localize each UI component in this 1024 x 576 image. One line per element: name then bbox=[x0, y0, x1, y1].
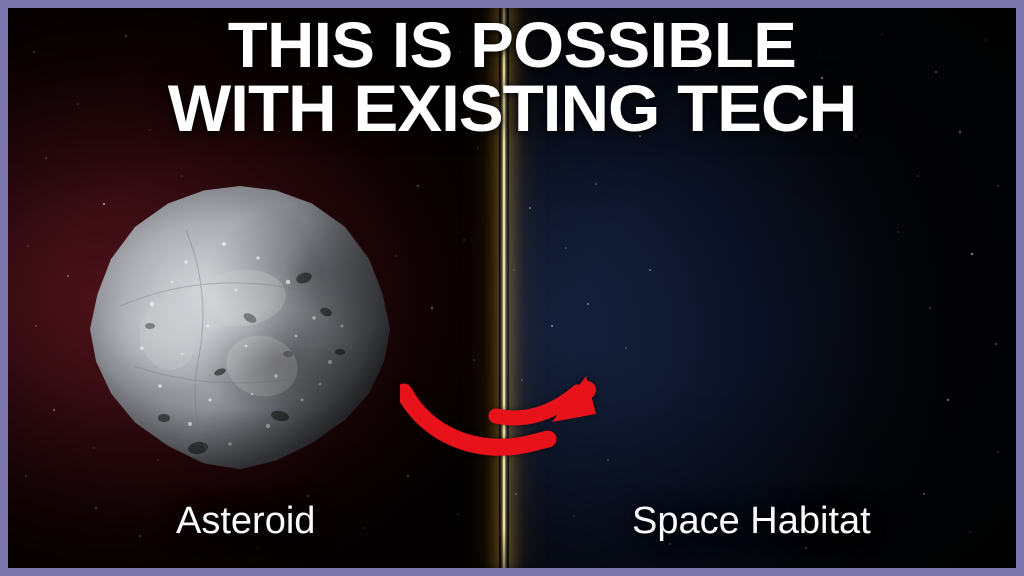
right-vignette bbox=[500, 8, 1016, 568]
thumbnail-canvas: 27-17 bbox=[8, 8, 1016, 568]
youtube-thumbnail: 27-17 bbox=[0, 0, 1024, 576]
right-starfield bbox=[500, 8, 1016, 568]
asteroid-bennu-image bbox=[90, 186, 390, 478]
asteroid-regolith-texture bbox=[90, 186, 390, 478]
right-panel-habitat: 27-17 bbox=[500, 8, 1016, 568]
left-panel-asteroid bbox=[8, 8, 500, 568]
